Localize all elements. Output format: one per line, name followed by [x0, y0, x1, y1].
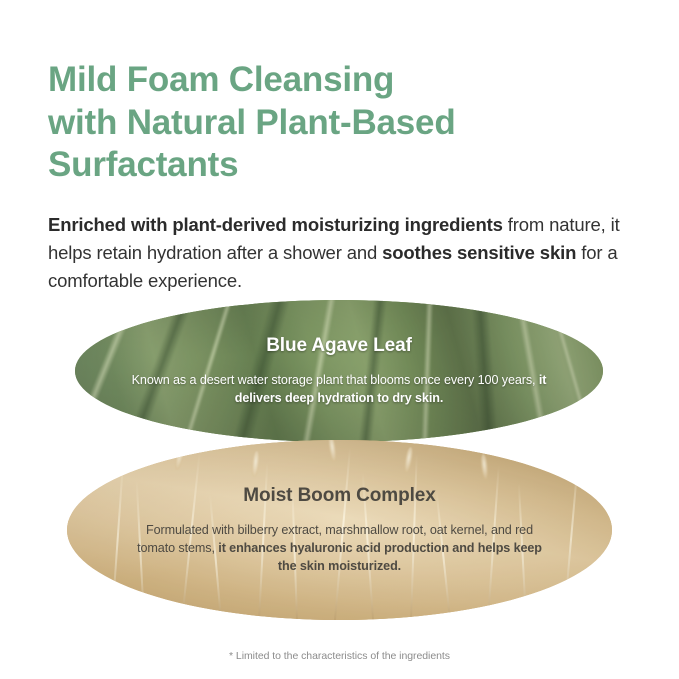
agave-panel-content: Blue Agave Leaf Known as a desert water …	[75, 300, 603, 442]
agave-panel-body: Known as a desert water storage plant th…	[124, 371, 554, 408]
moist-panel-body: Formulated with bilberry extract, marshm…	[130, 521, 550, 576]
ingredient-panel-moist-boom-complex: Moist Boom Complex Formulated with bilbe…	[67, 440, 612, 620]
moist-panel-content: Moist Boom Complex Formulated with bilbe…	[67, 440, 612, 620]
moist-body-bold: it enhances hyaluronic acid production a…	[215, 541, 542, 573]
page-title-line-2: with Natural Plant-Based	[48, 102, 648, 144]
agave-panel-title: Blue Agave Leaf	[266, 335, 412, 357]
intro-bold-1: Enriched with plant-derived moisturizing…	[48, 214, 503, 235]
intro-paragraph: Enriched with plant-derived moisturizing…	[48, 211, 638, 296]
agave-body-text: Known as a desert water storage plant th…	[132, 373, 536, 387]
page-title-line-1: Mild Foam Cleansing	[48, 59, 648, 101]
page-title-line-3: Surfactants	[48, 144, 648, 186]
ingredient-panel-blue-agave-leaf: Blue Agave Leaf Known as a desert water …	[75, 300, 603, 442]
page-title: Mild Foam Cleansing with Natural Plant-B…	[48, 59, 648, 186]
footnote: * Limited to the characteristics of the …	[0, 650, 679, 662]
product-detail-page: Mild Foam Cleansing with Natural Plant-B…	[0, 0, 679, 679]
moist-panel-title: Moist Boom Complex	[243, 485, 435, 507]
intro-bold-2: soothes sensitive skin	[382, 242, 576, 263]
